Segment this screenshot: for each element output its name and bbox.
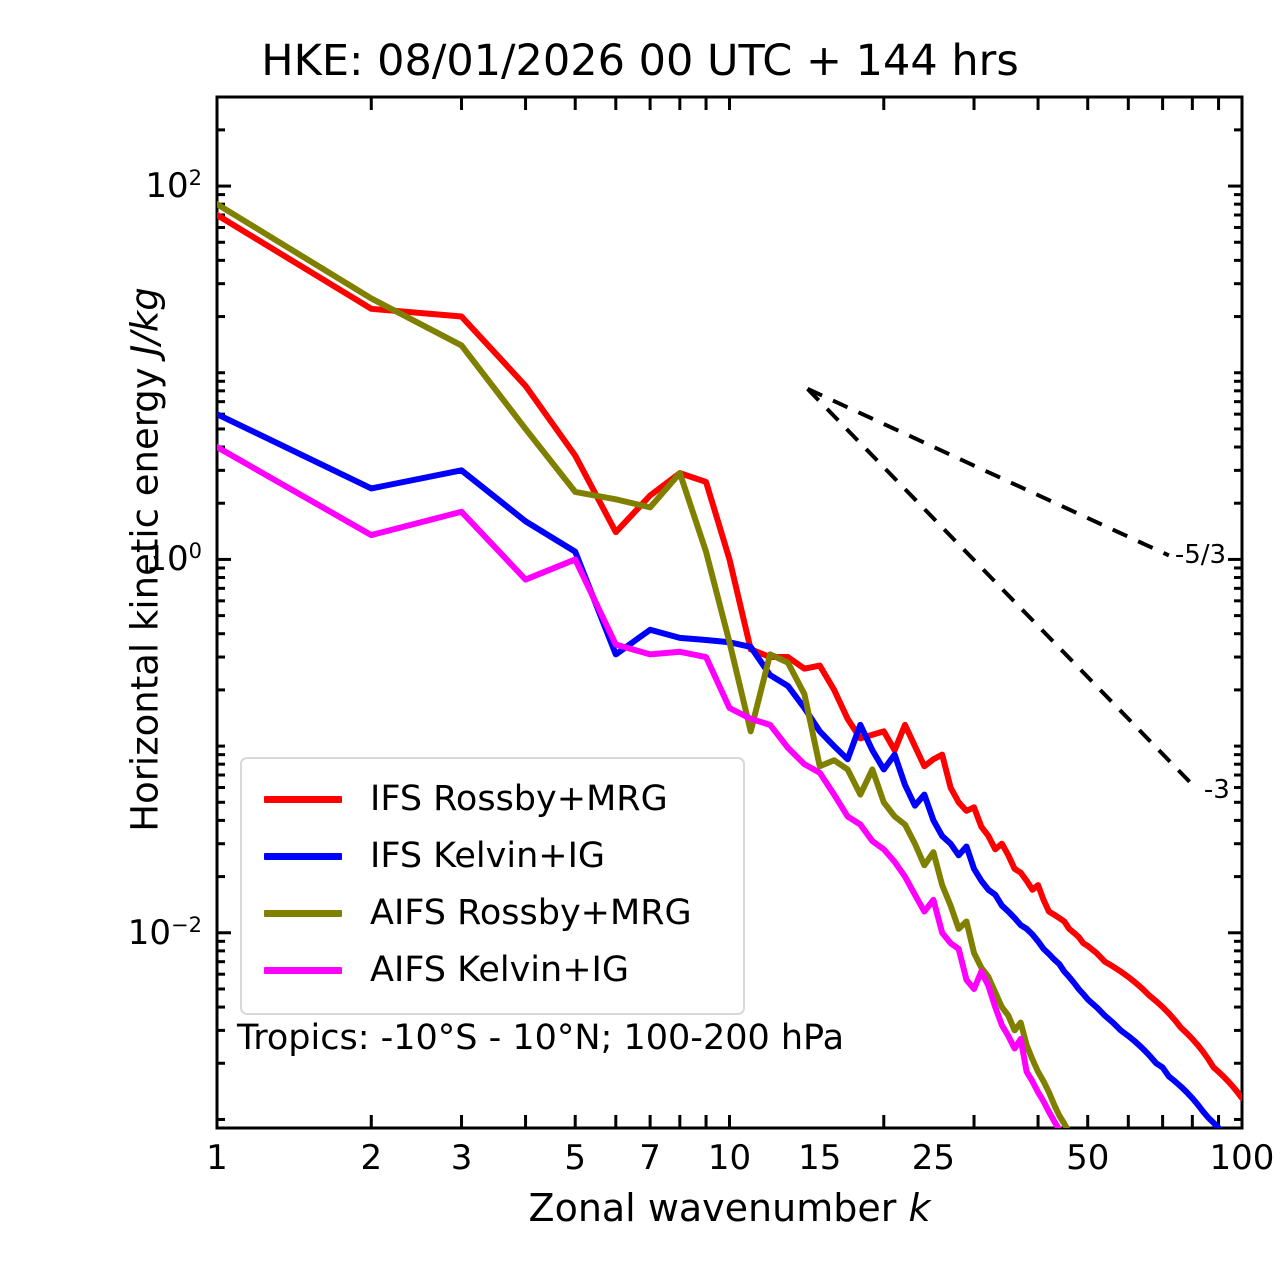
figure-canvas: HKE: 08/01/2026 00 UTC + 144 hrs Horizon…: [0, 0, 1280, 1288]
region-annotation: Tropics: -10°S - 10°N; 100-200 hPa: [237, 1018, 844, 1058]
y-tick-label: 100: [67, 539, 202, 579]
legend-item-3[interactable]: AIFS Kelvin+IG: [242, 942, 743, 999]
x-tick-label: 100: [1210, 1138, 1275, 1178]
x-tick-label: 3: [451, 1138, 473, 1178]
y-tick-label: 10−2: [67, 913, 202, 953]
legend-item-2[interactable]: AIFS Rossby+MRG: [242, 885, 743, 942]
x-tick-label: 50: [1066, 1138, 1109, 1178]
slope-label-1: -3: [1204, 775, 1230, 805]
x-tick-label: 1: [206, 1138, 228, 1178]
x-tick-label: 5: [564, 1138, 586, 1178]
x-tick-label: 15: [798, 1138, 841, 1178]
slope-line-0: [808, 389, 1169, 556]
x-tick-label: 2: [360, 1138, 382, 1178]
legend-label: IFS Rossby+MRG: [370, 782, 668, 817]
legend-item-0[interactable]: IFS Rossby+MRG: [242, 771, 743, 828]
legend: IFS Rossby+MRGIFS Kelvin+IGAIFS Rossby+M…: [240, 757, 745, 1015]
slope-label-0: -5/3: [1175, 540, 1226, 570]
legend-item-1[interactable]: IFS Kelvin+IG: [242, 828, 743, 885]
legend-swatch: [264, 910, 342, 917]
x-tick-label: 10: [708, 1138, 751, 1178]
legend-label: IFS Kelvin+IG: [370, 839, 605, 874]
x-tick-label: 7: [639, 1138, 661, 1178]
legend-swatch: [264, 796, 342, 803]
x-tick-label: 25: [912, 1138, 955, 1178]
legend-label: AIFS Rossby+MRG: [370, 896, 692, 931]
y-tick-label: 102: [67, 166, 202, 206]
legend-swatch: [264, 853, 342, 860]
legend-swatch: [264, 967, 342, 974]
legend-label: AIFS Kelvin+IG: [370, 953, 629, 988]
